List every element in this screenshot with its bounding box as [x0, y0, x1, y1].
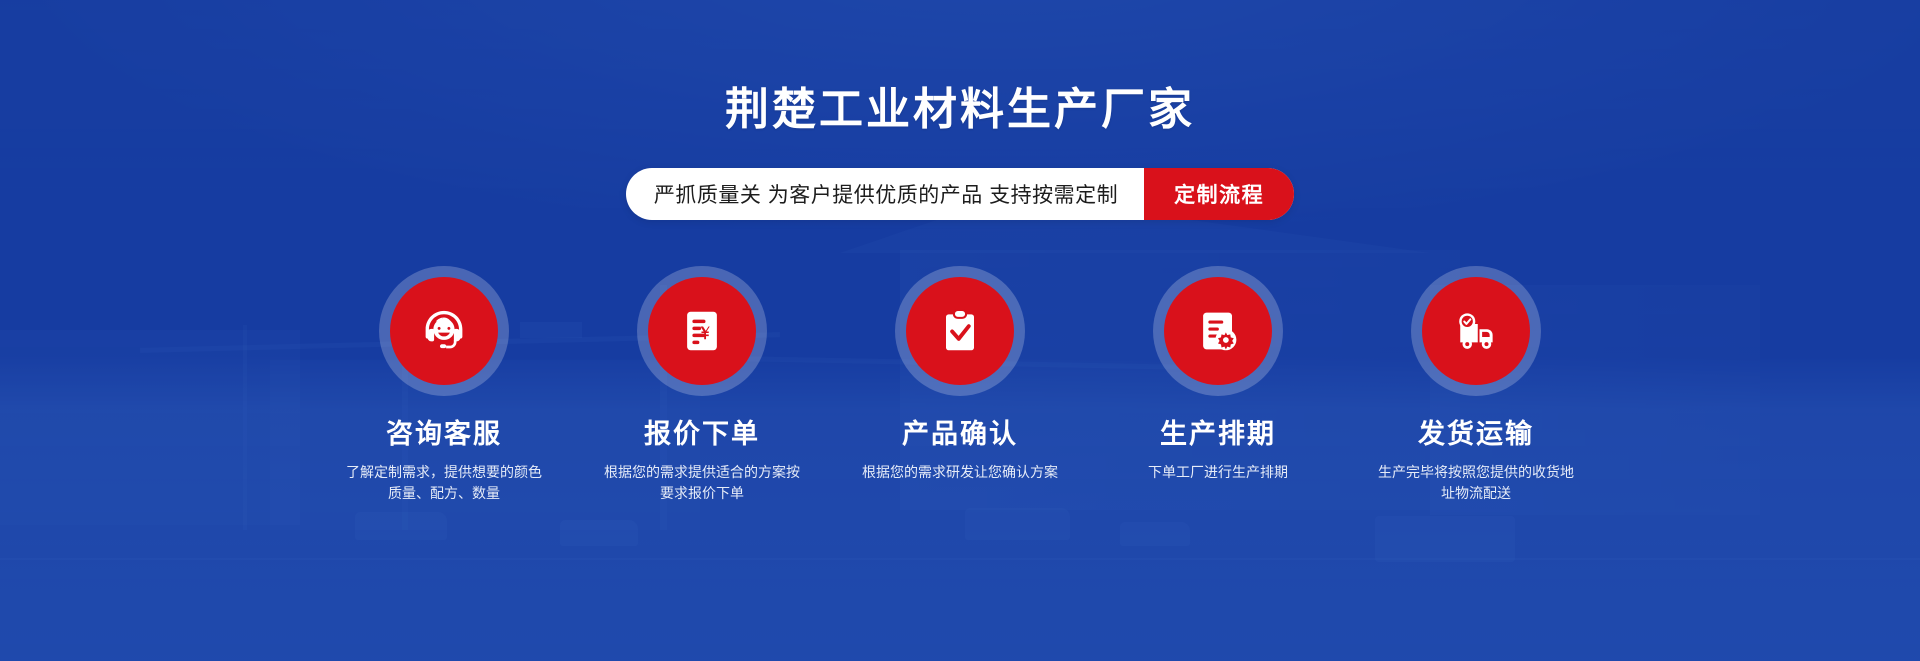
icon-disc — [648, 277, 756, 385]
icon-disc — [1164, 277, 1272, 385]
step-description: 根据您的需求研发让您确认方案 — [862, 462, 1058, 484]
tagline-text: 严抓质量关 为客户提供优质的产品 支持按需定制 — [654, 168, 1144, 220]
step-title: 产品确认 — [902, 420, 1018, 450]
step-description: 了解定制需求，提供想要的颜色质量、配方、数量 — [344, 462, 544, 505]
step-title: 发货运输 — [1418, 420, 1534, 450]
clipboard-check-icon — [932, 303, 988, 359]
invoice-yen-icon — [674, 303, 730, 359]
icon-ring — [895, 266, 1025, 396]
step-item-confirm[interactable]: 产品确认 根据您的需求研发让您确认方案 — [860, 266, 1060, 483]
step-title: 生产排期 — [1160, 420, 1276, 450]
document-gear-icon — [1190, 303, 1246, 359]
icon-disc — [906, 277, 1014, 385]
step-description: 生产完毕将按照您提供的收货地址物流配送 — [1376, 462, 1576, 505]
headset-support-icon — [416, 303, 472, 359]
step-item-consult[interactable]: 咨询客服 了解定制需求，提供想要的颜色质量、配方、数量 — [344, 266, 544, 505]
icon-ring — [1153, 266, 1283, 396]
step-title: 咨询客服 — [386, 420, 502, 450]
promo-banner: 荆楚工业材料生产厂家 严抓质量关 为客户提供优质的产品 支持按需定制 定制流程 — [0, 0, 1920, 661]
step-item-shipping[interactable]: 发货运输 生产完毕将按照您提供的收货地址物流配送 — [1376, 266, 1576, 505]
icon-disc — [1422, 277, 1530, 385]
step-description: 根据您的需求提供适合的方案按要求报价下单 — [602, 462, 802, 505]
step-item-schedule[interactable]: 生产排期 下单工厂进行生产排期 — [1118, 266, 1318, 483]
icon-ring — [1411, 266, 1541, 396]
banner-content: 荆楚工业材料生产厂家 严抓质量关 为客户提供优质的产品 支持按需定制 定制流程 — [0, 0, 1920, 661]
step-description: 下单工厂进行生产排期 — [1148, 462, 1288, 484]
step-title: 报价下单 — [644, 420, 760, 450]
icon-disc — [390, 277, 498, 385]
page-title: 荆楚工业材料生产厂家 — [725, 88, 1195, 132]
process-steps: 咨询客服 了解定制需求，提供想要的颜色质量、配方、数量 — [344, 266, 1576, 505]
delivery-truck-check-icon — [1448, 303, 1504, 359]
icon-ring — [379, 266, 509, 396]
custom-process-button[interactable]: 定制流程 — [1144, 168, 1294, 220]
icon-ring — [637, 266, 767, 396]
step-item-quote[interactable]: 报价下单 根据您的需求提供适合的方案按要求报价下单 — [602, 266, 802, 505]
tagline-pill: 严抓质量关 为客户提供优质的产品 支持按需定制 定制流程 — [626, 168, 1294, 220]
